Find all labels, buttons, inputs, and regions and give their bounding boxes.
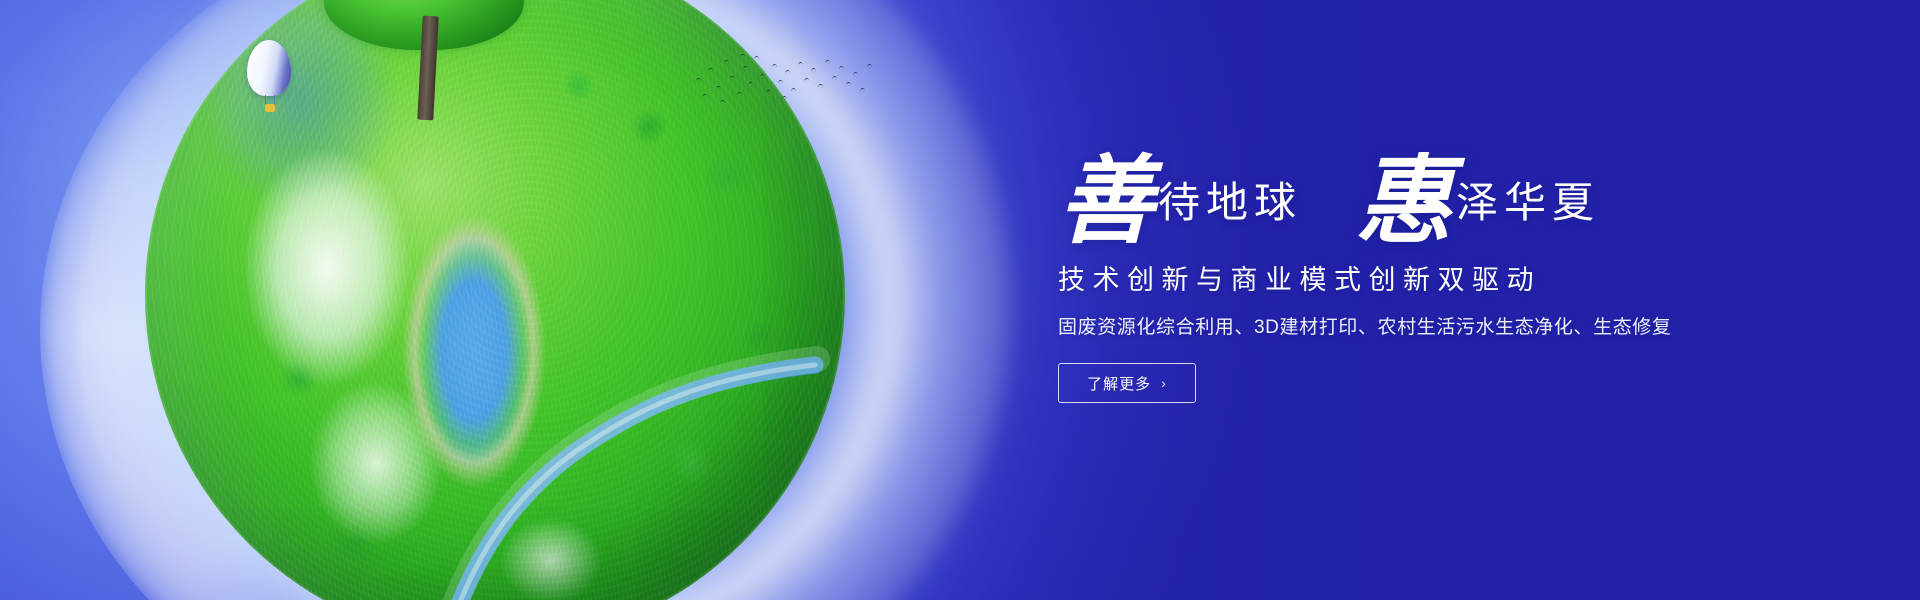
hot-air-balloon-icon xyxy=(243,40,303,120)
bird-flock-icon xyxy=(690,48,880,110)
headline-text-2: 泽华夏 xyxy=(1456,169,1600,230)
learn-more-button[interactable]: 了解更多 › xyxy=(1058,363,1196,403)
banner-subtitle: 技术创新与商业模式创新双驱动 xyxy=(1058,258,1698,297)
headline-text-1: 待地球 xyxy=(1158,169,1302,230)
headline-group-2: 惠 泽华夏 xyxy=(1356,148,1600,244)
banner-description: 固废资源化综合利用、3D建材打印、农村生活污水生态净化、生态修复 xyxy=(1058,312,1698,339)
headline-char-large-1: 善 xyxy=(1058,154,1154,250)
balloon-envelope xyxy=(247,40,291,96)
headline-group-1: 善 待地球 xyxy=(1058,148,1302,244)
learn-more-label: 了解更多 xyxy=(1087,373,1151,394)
headline-char-large-2: 惠 xyxy=(1356,154,1452,250)
large-tree-icon xyxy=(300,0,530,120)
banner-headline: 善 待地球 惠 泽华夏 xyxy=(1058,148,1698,244)
chevron-right-icon: › xyxy=(1161,375,1167,391)
banner-content: 善 待地球 惠 泽华夏 技术创新与商业模式创新双驱动 固废资源化综合利用、3D建… xyxy=(1058,148,1698,403)
hero-banner: 善 待地球 惠 泽华夏 技术创新与商业模式创新双驱动 固废资源化综合利用、3D建… xyxy=(0,0,1920,600)
balloon-basket xyxy=(265,104,275,112)
